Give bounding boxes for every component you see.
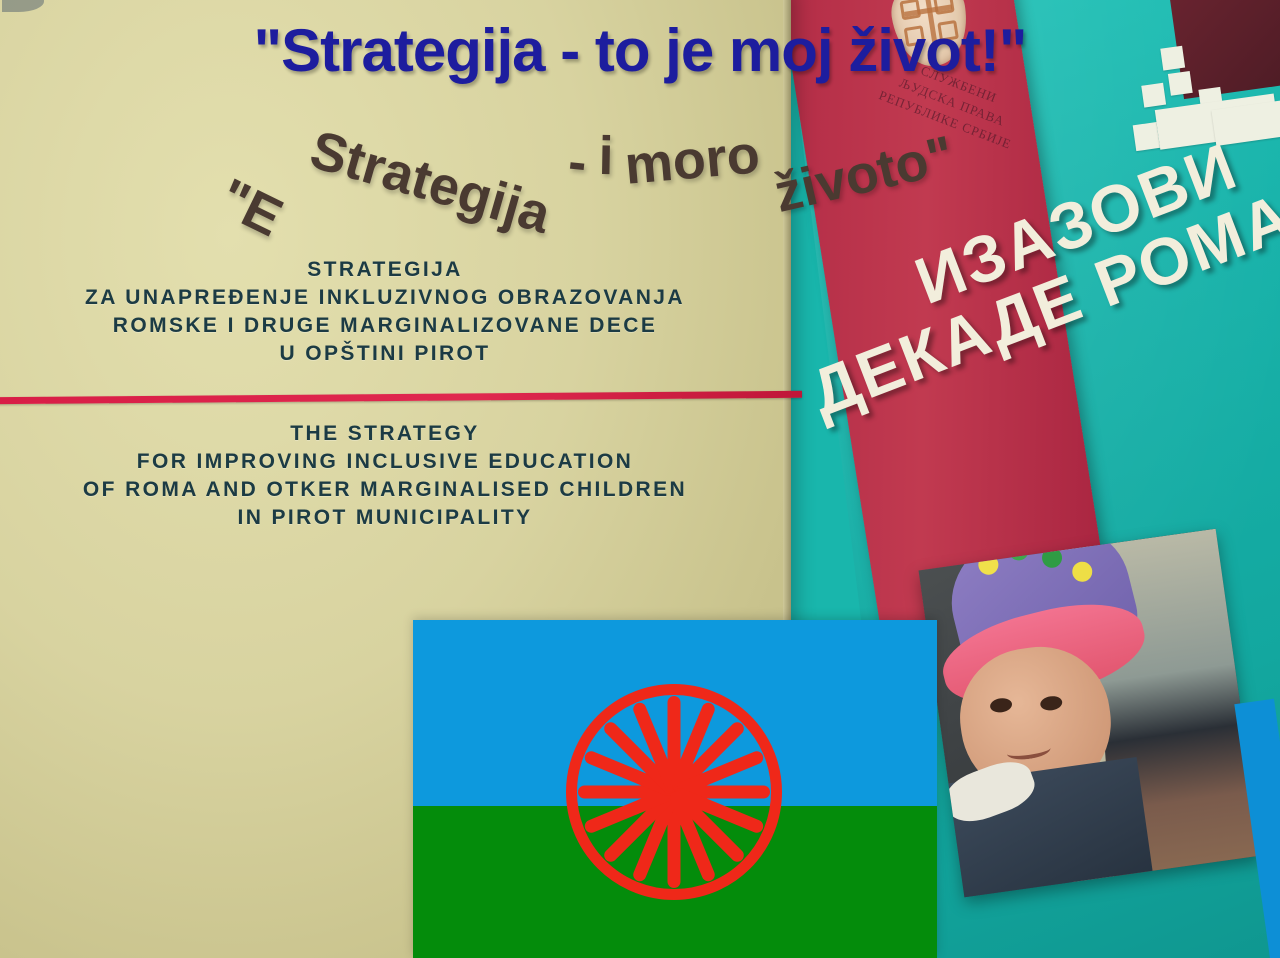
main-title-dark-word: i (598, 125, 614, 187)
document-english-title-line: THE STRATEGY (0, 420, 780, 448)
document-english-title-line: FOR IMPROVING INCLUSIVE EDUCATION (0, 448, 780, 476)
document-serbian-title-line: ZA UNAPREĐENJE INKLUZIVNOG OBRAZOVANJA (0, 284, 780, 312)
document-english-title-line: IN PIROT MUNICIPALITY (0, 504, 780, 532)
chakra-wheel-icon (566, 684, 782, 900)
document-serbian-title: STRATEGIJA ZA UNAPREĐENJE INKLUZIVNOG OB… (0, 256, 780, 369)
main-title-dark-word: - (565, 130, 589, 194)
document-english-title-line: OF ROMA AND OTKER MARGINALISED CHILDREN (0, 476, 780, 504)
main-title-blue: "Strategija - to je moj život!" (0, 16, 1280, 85)
roma-flag (413, 620, 937, 958)
crest-firesteel-icon (933, 0, 955, 15)
main-title-dark-word: moro (622, 123, 762, 197)
document-english-title: THE STRATEGY FOR IMPROVING INCLUSIVE EDU… (0, 420, 780, 533)
poster-image: СЛУЖБЕНИ ЉУДСКА ПРАВА РЕПУБЛИКЕ СРБИЈЕ И… (0, 0, 1280, 958)
document-serbian-title-line: ROMSKE I DRUGE MARGINALIZOVANE DECE (0, 312, 780, 340)
document-serbian-title-line: STRATEGIJA (0, 256, 780, 284)
child-photograph (918, 529, 1261, 898)
main-title-dark: "EStrategija-imoroživoto" (230, 125, 1250, 187)
document-serbian-title-line: U OPŠTINI PIROT (0, 340, 780, 368)
